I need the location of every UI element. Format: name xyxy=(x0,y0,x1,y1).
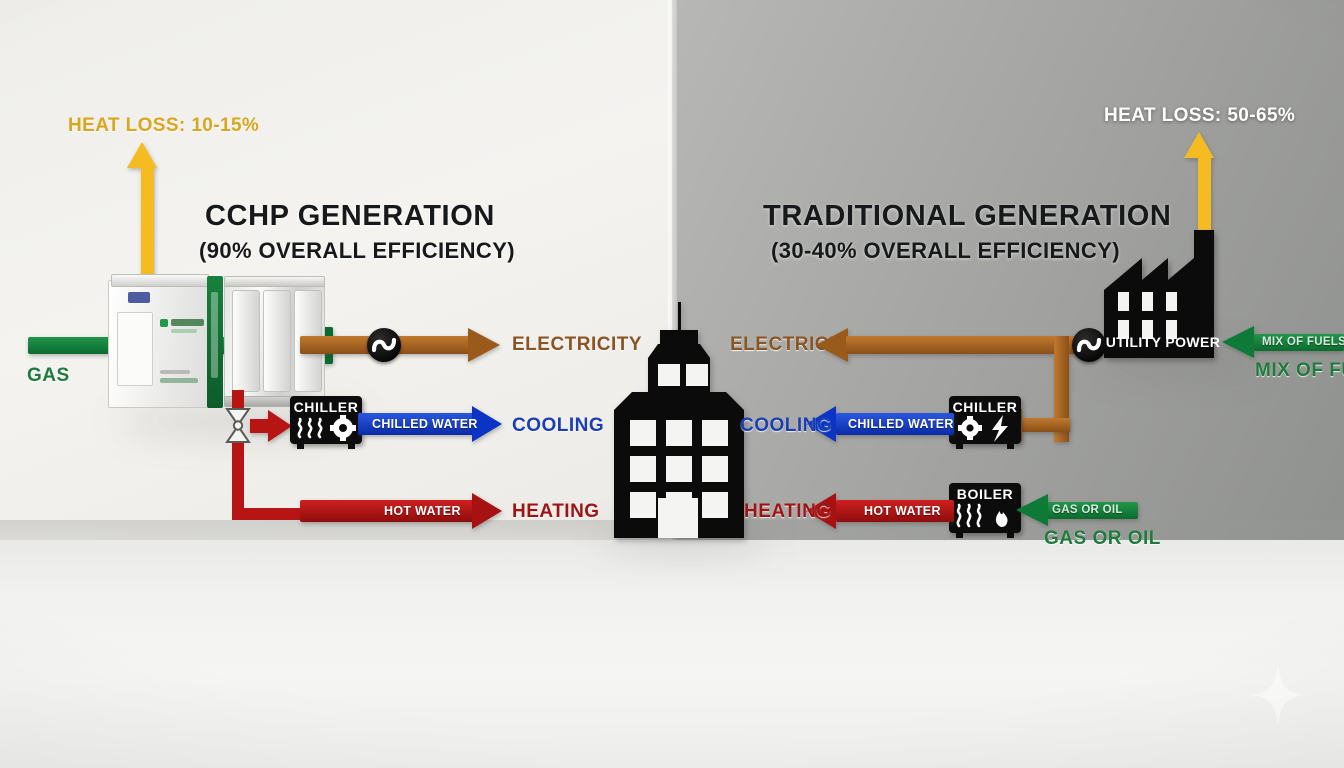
left-hot-water-text: HOT WATER xyxy=(384,504,461,518)
mix-of-fuels-arrow-text: MIX OF FUELS xyxy=(1262,336,1344,348)
boiler-device: BOILER xyxy=(949,483,1021,533)
mix-of-fuels-label: MIX OF FUELS xyxy=(1255,360,1344,382)
gas-or-oil-label: GAS OR OIL xyxy=(1044,528,1161,550)
chp-module xyxy=(108,272,323,412)
left-chiller-title: CHILLER xyxy=(290,399,362,415)
gas-or-oil-arrow-text: GAS OR OIL xyxy=(1052,504,1123,516)
gear-icon xyxy=(330,415,356,441)
right-hot-water-text: HOT WATER xyxy=(864,504,941,518)
left-panel-subtitle: (90% OVERALL EFFICIENCY) xyxy=(199,238,515,264)
sparkle-watermark-icon xyxy=(1250,664,1306,726)
heat-loss-right-label: HEAT LOSS: 50-65% xyxy=(1104,105,1295,127)
flame-icon xyxy=(996,511,1008,527)
lightning-bolt-icon xyxy=(992,415,1008,442)
gas-input-label: GAS xyxy=(27,365,70,387)
generator-wave-icon xyxy=(367,328,401,362)
diagram-canvas: HEAT LOSS: 10-15% HEAT LOSS: 50-65% CCHP… xyxy=(0,0,1344,768)
gear-icon xyxy=(958,416,982,440)
left-panel-title: CCHP GENERATION xyxy=(205,200,495,232)
right-cooling-label: COOLING xyxy=(740,415,832,437)
left-heating-label: HEATING xyxy=(512,501,600,523)
utility-power-label: UTILITY POWER xyxy=(1098,334,1228,350)
boiler-title: BOILER xyxy=(949,486,1021,502)
right-chilled-water-text: CHILLED WATER xyxy=(848,417,954,431)
left-cooling-label: COOLING xyxy=(512,415,604,437)
floor-surface xyxy=(0,540,1344,768)
left-panel-background xyxy=(0,0,672,560)
left-panel-heading: CCHP GENERATION (90% OVERALL EFFICIENCY) xyxy=(205,200,515,264)
left-chilled-water-text: CHILLED WATER xyxy=(372,417,478,431)
right-chiller-device: CHILLER xyxy=(949,396,1021,444)
heat-waves-icon xyxy=(958,505,980,526)
heat-waves-icon xyxy=(299,419,321,437)
heat-loss-left-label: HEAT LOSS: 10-15% xyxy=(68,115,259,137)
left-chiller-device: CHILLER xyxy=(290,396,362,444)
right-panel-title: TRADITIONAL GENERATION xyxy=(763,200,1171,232)
right-heating-label: HEATING xyxy=(744,501,832,523)
right-chiller-title: CHILLER xyxy=(949,399,1021,415)
right-panel-background xyxy=(672,0,1344,560)
